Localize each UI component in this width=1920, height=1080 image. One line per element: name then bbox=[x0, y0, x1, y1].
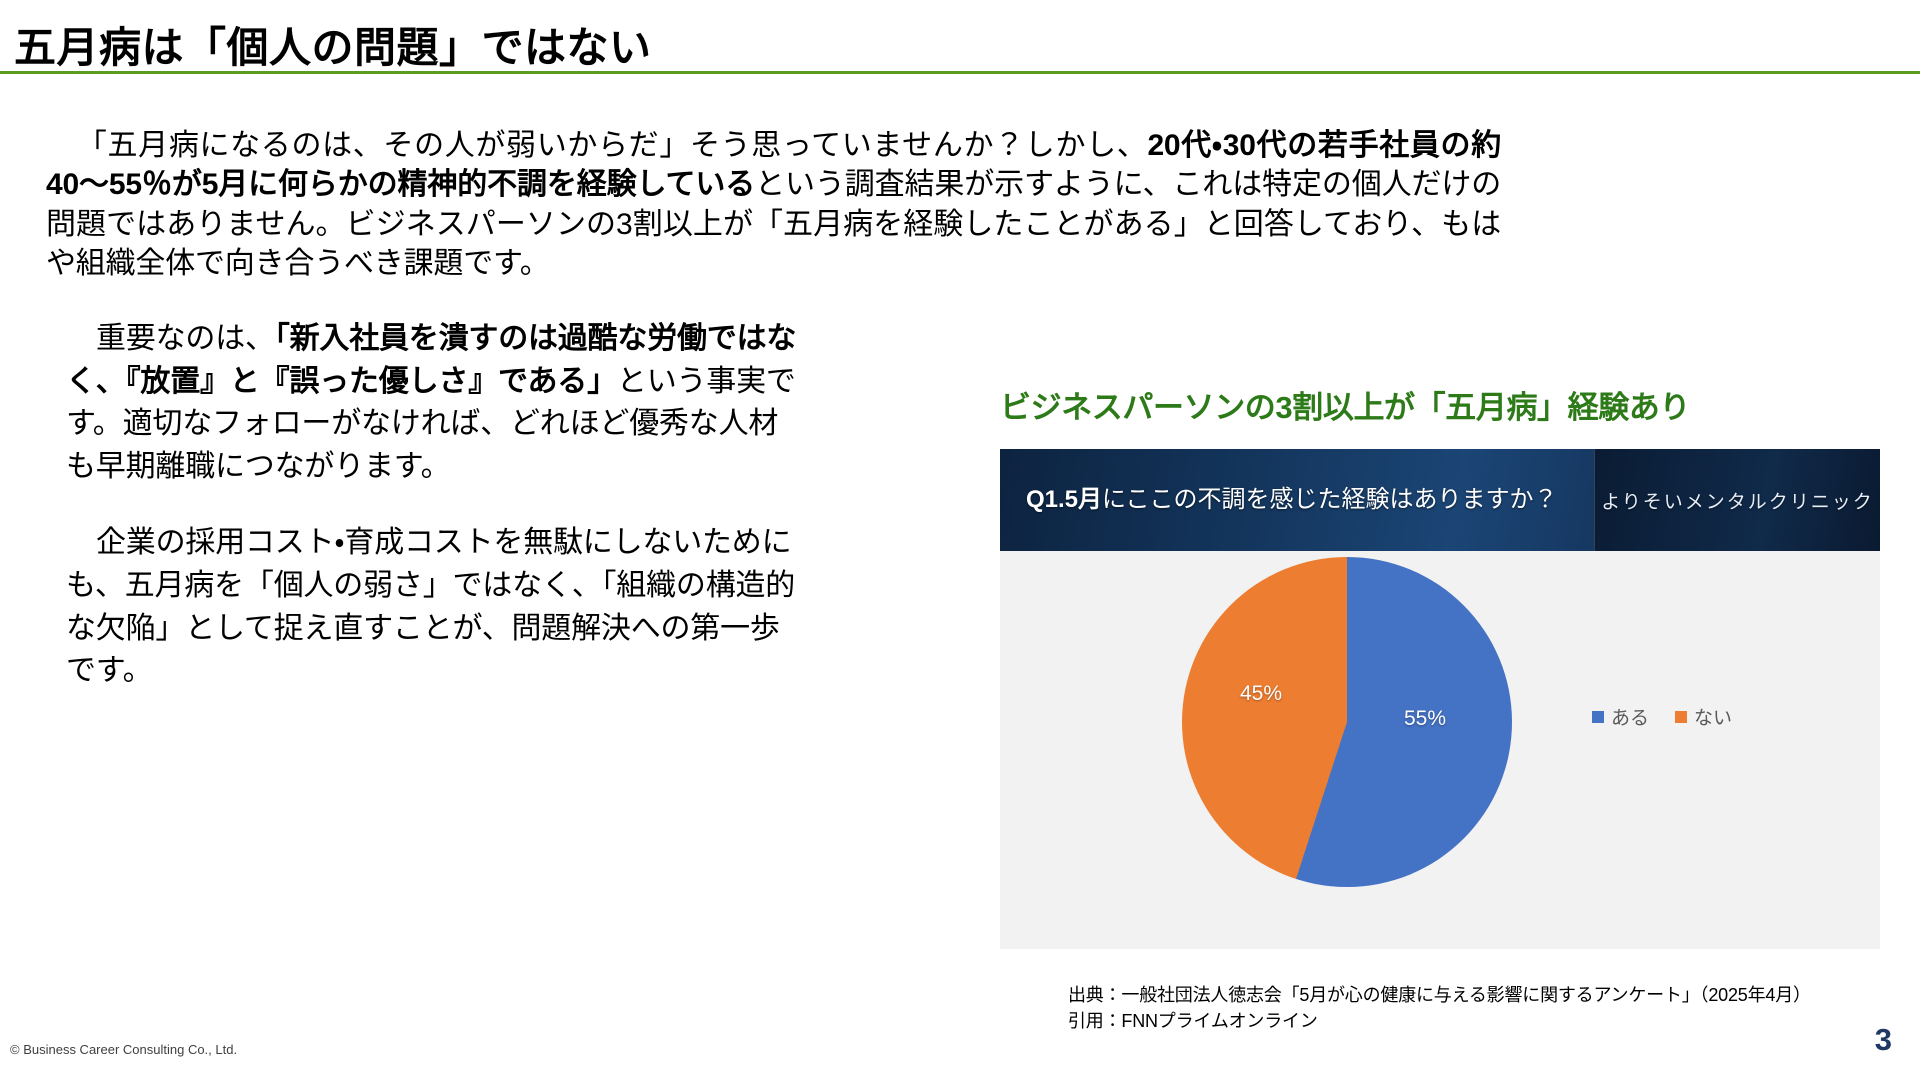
legend-item-aru: ある bbox=[1592, 703, 1649, 730]
right-column: ビジネスパーソンの3割以上が「五月病」経験あり Q1.5月にここの不調を感じた経… bbox=[1000, 382, 1880, 949]
pie-slice-label-aru: 55% bbox=[1404, 707, 1446, 731]
paragraph-1-part1: 重要なのは、 bbox=[96, 322, 275, 355]
figure-brand-block: よりそいメンタルクリニック bbox=[1594, 449, 1880, 551]
page-title: 五月病は「個人の問題」ではない bbox=[14, 14, 652, 75]
title-divider bbox=[0, 71, 1920, 74]
source-line-1: 出典：一般社団法人徳志会「5月が心の健康に与える影響に関するアンケート」（202… bbox=[1068, 982, 1908, 1008]
pie-shape bbox=[1182, 557, 1512, 887]
figure-question-rest: にここの不調を感じた経験はありますか？ bbox=[1102, 486, 1558, 513]
legend-swatch-orange-icon bbox=[1675, 711, 1687, 723]
survey-figure: Q1.5月にここの不調を感じた経験はありますか？ よりそいメンタルクリニック 5… bbox=[1000, 449, 1880, 949]
chart-legend: ある ない bbox=[1592, 703, 1732, 730]
figure-plot-area: 55% 45% ある ない bbox=[1000, 551, 1880, 949]
source-note: 出典：一般社団法人徳志会「5月が心の健康に与える影響に関するアンケート」（202… bbox=[1068, 982, 1908, 1034]
clinic-brand-label: よりそいメンタルクリニック bbox=[1601, 487, 1874, 514]
intro-paragraph: 「五月病になるのは、その人が弱いからだ」そう思っていませんか？しかし、20代・3… bbox=[46, 126, 1501, 283]
legend-item-nai: ない bbox=[1675, 703, 1732, 730]
legend-label-nai: ない bbox=[1694, 703, 1732, 730]
intro-text-part1: 「五月病になるのは、その人が弱いからだ」そう思っていませんか？しかし、 bbox=[76, 129, 1147, 162]
legend-swatch-blue-icon bbox=[1592, 711, 1604, 723]
source-line-2: 引用：FNNプライムオンライン bbox=[1068, 1008, 1908, 1034]
figure-question-block: Q1.5月にここの不調を感じた経験はありますか？ bbox=[1000, 449, 1594, 551]
legend-label-aru: ある bbox=[1611, 703, 1649, 730]
body-paragraph-1: 重要なのは、「新入社員を潰すのは過酷な労働ではなく、『放置』と『誤った優しさ』で… bbox=[66, 318, 806, 488]
pie-chart: 55% 45% bbox=[1182, 557, 1512, 887]
chart-headline: ビジネスパーソンの3割以上が「五月病」経験あり bbox=[1000, 382, 1880, 427]
page-number: 3 bbox=[1875, 1022, 1892, 1058]
left-column: 重要なのは、「新入社員を潰すのは過酷な労働ではなく、『放置』と『誤った優しさ』で… bbox=[66, 318, 806, 693]
figure-header-bar: Q1.5月にここの不調を感じた経験はありますか？ よりそいメンタルクリニック bbox=[1000, 449, 1880, 551]
figure-question-text: Q1.5月にここの不調を感じた経験はありますか？ bbox=[1026, 485, 1558, 516]
copyright-text: © Business Career Consulting Co., Ltd. bbox=[10, 1042, 237, 1057]
figure-question-lead: Q1.5月 bbox=[1026, 486, 1102, 513]
slide-root: 五月病は「個人の問題」ではない 「五月病になるのは、その人が弱いからだ」そう思っ… bbox=[0, 0, 1920, 1080]
pie-slice-label-nai: 45% bbox=[1240, 682, 1282, 706]
body-paragraph-2: 企業の採用コスト・育成コストを無駄にしないためにも、五月病を「個人の弱さ」ではな… bbox=[66, 522, 806, 692]
paragraph-2-part1: 企業の採用コスト・育成コストを無駄にしないためにも、五月病を「個人の弱さ」ではな… bbox=[66, 526, 795, 687]
